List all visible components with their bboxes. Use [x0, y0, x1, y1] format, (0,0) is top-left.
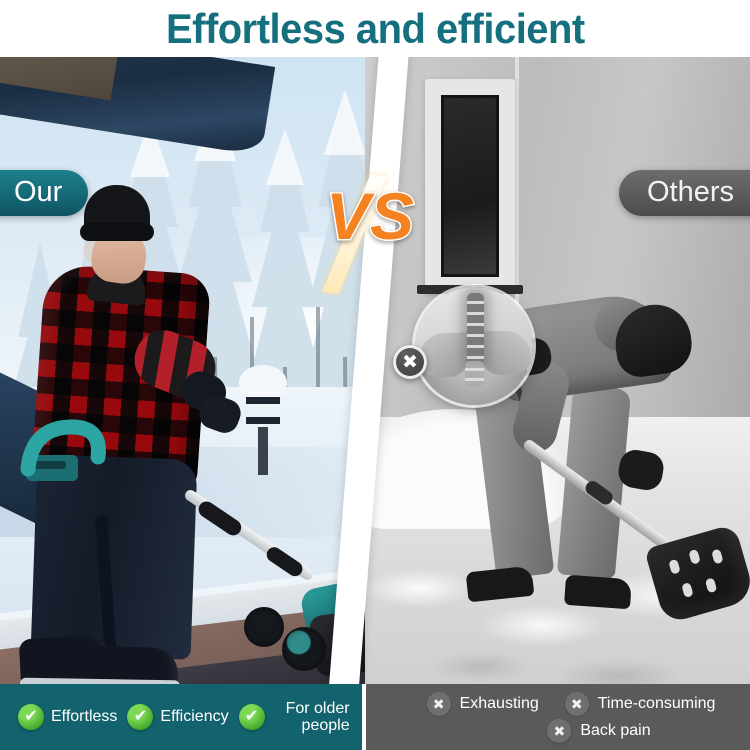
back-pain-inset [415, 287, 533, 405]
drawbacks-row-1: ✖ Exhausting ✖ Time-consuming [427, 692, 716, 716]
benefit-item: ✔ Effortless [18, 704, 117, 730]
vs-label: VS [316, 183, 424, 249]
panels-container: ✖ Our Others VS [0, 57, 750, 684]
blade-hole [668, 559, 681, 575]
shovel-wheel-rear [244, 607, 284, 647]
page-title: Effortless and efficient [166, 8, 585, 50]
blade-hole [688, 549, 701, 565]
panel-our [0, 57, 385, 684]
benefit-label: For older people [272, 700, 350, 735]
badge-others: Others [619, 170, 750, 216]
benefit-item: ✔ Efficiency [127, 704, 228, 730]
drawback-item: ✖ Time-consuming [565, 692, 716, 716]
drawbacks-row-2: ✖ Back pain [491, 719, 650, 743]
drawback-label: Exhausting [460, 695, 539, 713]
beanie-brim [80, 223, 154, 241]
badge-our: Our [0, 170, 88, 216]
benefits-bar: ✔ Effortless ✔ Efficiency ✔ For older pe… [0, 684, 362, 750]
blade-hole [681, 582, 694, 598]
drawback-label: Time-consuming [598, 695, 716, 713]
left-photo [0, 57, 385, 684]
benefit-label: Effortless [51, 708, 117, 725]
shovel-upper-grip [196, 498, 245, 538]
x-circle-icon: ✖ [565, 692, 589, 716]
inset-x-icon: ✖ [393, 345, 427, 379]
check-circle-icon: ✔ [239, 704, 265, 730]
x-circle-icon: ✖ [547, 719, 571, 743]
badge-others-label: Others [647, 176, 734, 208]
comparison-infographic: Effortless and efficient [0, 0, 750, 750]
shovel-lower-grip [264, 544, 306, 579]
drawback-item: ✖ Exhausting [427, 692, 539, 716]
blade-hole [705, 577, 718, 593]
blade-hole [711, 549, 724, 565]
tool-handle-teal [18, 417, 108, 487]
drawbacks-bar: ✖ Exhausting ✖ Time-consuming ✖ Back pai… [366, 684, 750, 750]
panel-others: ✖ [365, 57, 750, 684]
drawback-item: ✖ Back pain [547, 719, 650, 743]
hand-right-xray [481, 331, 531, 375]
window-glass [441, 95, 499, 277]
manual-snow-shovel [525, 437, 750, 657]
hand-left-xray [419, 333, 469, 377]
spine-lower [465, 361, 484, 387]
benefit-item: ✔ For older people [239, 700, 350, 735]
x-circle-icon: ✖ [427, 692, 451, 716]
bottom-bars: ✔ Effortless ✔ Efficiency ✔ For older pe… [0, 684, 750, 750]
right-photo: ✖ [365, 57, 750, 684]
title-bar: Effortless and efficient [0, 0, 750, 57]
badge-our-label: Our [14, 176, 62, 208]
drawback-label: Back pain [580, 722, 650, 740]
benefit-label: Efficiency [160, 708, 228, 725]
check-circle-icon: ✔ [127, 704, 153, 730]
spine-inflamed [467, 293, 484, 365]
shovel-wheel-front [282, 627, 326, 671]
check-circle-icon: ✔ [18, 704, 44, 730]
vs-emblem: VS [316, 181, 424, 285]
